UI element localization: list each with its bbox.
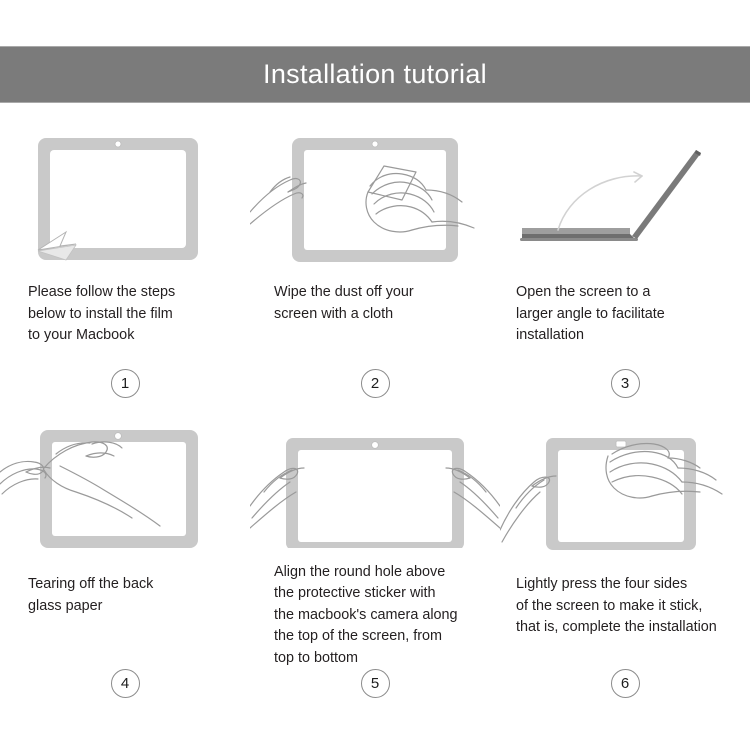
step-card-3: Open the screen to a larger angle to fac… xyxy=(500,120,750,410)
caption-line: Please follow the steps xyxy=(28,282,228,304)
caption-line: the protective sticker with xyxy=(274,583,478,605)
step-6-badge-wrap: 6 xyxy=(500,669,750,710)
step-1-illustration xyxy=(0,120,250,268)
laptop-base xyxy=(520,228,638,241)
caption-line: of the screen to make it stick, xyxy=(516,596,728,618)
step-3-illustration xyxy=(500,120,750,268)
step-5-caption: Align the round hole above the protectiv… xyxy=(250,548,500,670)
caption-line: Open the screen to a xyxy=(516,282,728,304)
caption-line: below to install the film xyxy=(28,304,228,326)
step-5-badge-wrap: 5 xyxy=(250,669,500,710)
caption-line: the top of the screen, from xyxy=(274,626,478,648)
tutorial-page: Installation tutorial Please follow the … xyxy=(0,0,750,750)
step-4-caption: Tearing off the back glass paper xyxy=(0,560,250,617)
caption-line: the macbook's camera along xyxy=(274,605,478,627)
hand-tearing-back-paper-icon xyxy=(0,410,250,560)
caption-line: installation xyxy=(516,325,728,347)
step-number-badge: 2 xyxy=(361,369,390,398)
step-card-4: Tearing off the back glass paper 4 xyxy=(0,410,250,710)
step-1-caption: Please follow the steps below to install… xyxy=(0,268,250,347)
caption-line: Lightly press the four sides xyxy=(516,574,728,596)
header-banner: Installation tutorial xyxy=(0,46,750,103)
laptop-lid xyxy=(632,150,701,239)
step-card-2: Wipe the dust off your screen with a clo… xyxy=(250,120,500,410)
step-3-caption: Open the screen to a larger angle to fac… xyxy=(500,268,750,347)
caption-line: Tearing off the back xyxy=(28,574,228,596)
screen-with-peeling-film-icon xyxy=(0,120,250,268)
caption-line: Align the round hole above xyxy=(274,562,478,584)
step-3-badge-wrap: 3 xyxy=(500,369,750,410)
step-number-badge: 4 xyxy=(111,669,140,698)
step-card-5: Align the round hole above the protectiv… xyxy=(250,410,500,710)
step-number-badge: 6 xyxy=(611,669,640,698)
step-4-badge-wrap: 4 xyxy=(0,669,250,710)
step-number-badge: 3 xyxy=(611,369,640,398)
step-6-illustration xyxy=(500,410,750,560)
page-title: Installation tutorial xyxy=(263,61,487,88)
step-card-6: Lightly press the four sides of the scre… xyxy=(500,410,750,710)
step-2-badge-wrap: 2 xyxy=(250,369,500,410)
step-number-badge: 1 xyxy=(111,369,140,398)
step-4-illustration xyxy=(0,410,250,560)
caption-line: top to bottom xyxy=(274,648,478,670)
step-2-illustration xyxy=(250,120,500,268)
hand-wiping-screen-icon xyxy=(250,120,500,268)
caption-line: Wipe the dust off your xyxy=(274,282,478,304)
hand-pressing-four-sides-icon xyxy=(500,410,750,560)
laptop-opening-lid-icon xyxy=(500,120,750,268)
caption-line: glass paper xyxy=(28,596,228,618)
step-6-caption: Lightly press the four sides of the scre… xyxy=(500,560,750,639)
step-1-badge-wrap: 1 xyxy=(0,369,250,410)
caption-line: screen with a cloth xyxy=(274,304,478,326)
steps-grid: Please follow the steps below to install… xyxy=(0,120,750,710)
step-5-illustration xyxy=(250,410,500,548)
step-2-caption: Wipe the dust off your screen with a clo… xyxy=(250,268,500,325)
caption-line: that is, complete the installation xyxy=(516,617,728,639)
caption-line: to your Macbook xyxy=(28,325,228,347)
step-card-1: Please follow the steps below to install… xyxy=(0,120,250,410)
two-hands-aligning-film-icon xyxy=(250,410,500,548)
step-number-badge: 5 xyxy=(361,669,390,698)
caption-line: larger angle to facilitate xyxy=(516,304,728,326)
